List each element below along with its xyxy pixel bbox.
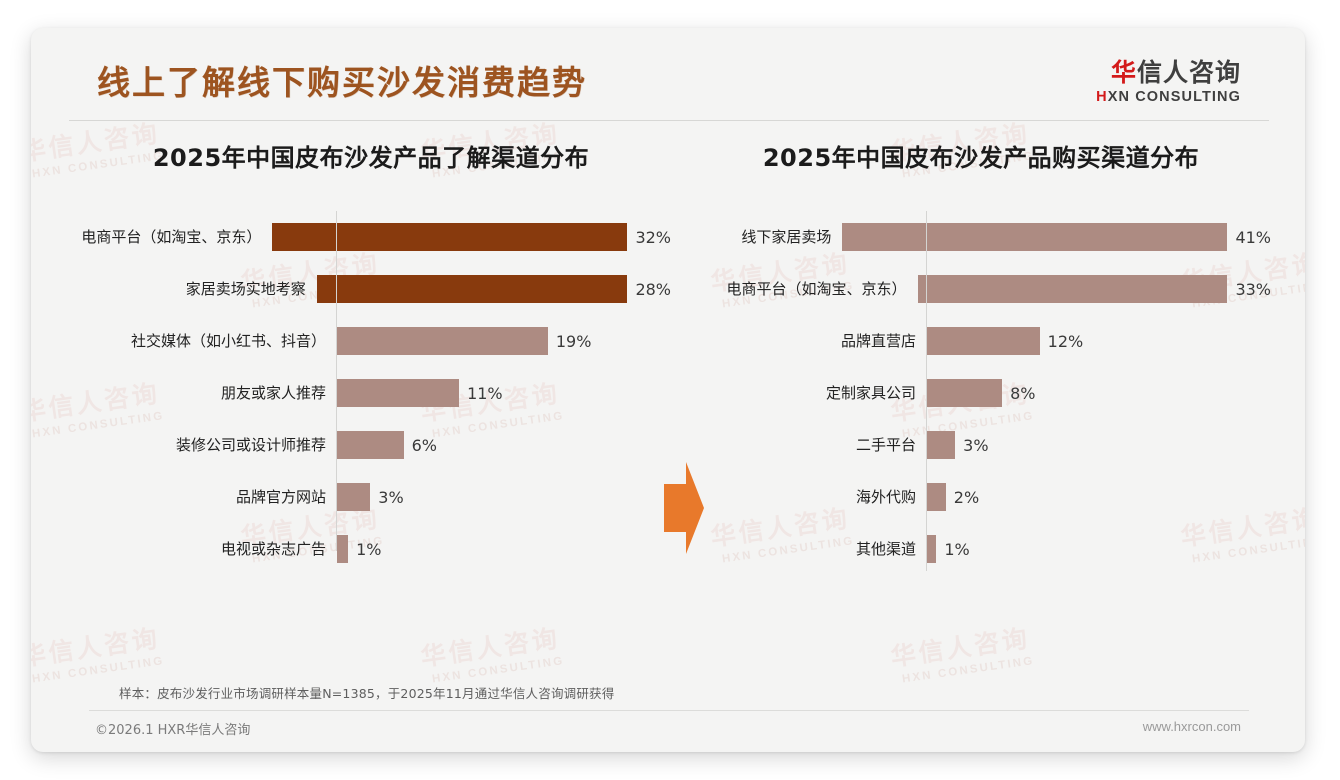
chart-value-label: 1% (944, 540, 969, 559)
chart-category-label: 装修公司或设计师推荐 (71, 438, 336, 453)
chart-bar[interactable] (927, 379, 1002, 407)
watermark-chinese: 华信人咨询 (31, 618, 163, 673)
orange-right-arrow-icon (662, 462, 706, 554)
chart-rows-left: 电商平台（如淘宝、京东）32%家居卖场实地考察28%社交媒体（如小红书、抖音）1… (71, 211, 671, 575)
watermark-english: HXN CONSULTING (431, 655, 565, 685)
chart-bar-wrap: 2% (926, 483, 1271, 511)
chart-category-label: 电视或杂志广告 (71, 542, 336, 557)
logo-chinese: 华信人咨询 (1096, 60, 1241, 86)
chart-value-label: 8% (1010, 384, 1035, 403)
chart-category-label: 二手平台 (691, 438, 926, 453)
chart-category-label: 品牌直营店 (691, 334, 926, 349)
chart-axis-right (926, 211, 927, 571)
chart-category-label: 电商平台（如淘宝、京东） (691, 282, 917, 297)
watermark-chinese: 华信人咨询 (418, 618, 563, 673)
chart-bar-wrap: 33% (917, 275, 1271, 303)
chart-bar-row: 电商平台（如淘宝、京东）32% (71, 211, 671, 263)
chart-bar-wrap: 12% (926, 327, 1271, 355)
chart-bar[interactable] (842, 223, 1227, 251)
chart-category-label: 其他渠道 (691, 542, 926, 557)
chart-title-right: 2025年中国皮布沙发产品购买渠道分布 (691, 138, 1271, 173)
chart-value-label: 2% (954, 488, 979, 507)
chart-category-label: 社交媒体（如小红书、抖音） (71, 334, 336, 349)
chart-bar-wrap: 1% (926, 535, 1271, 563)
chart-plot-right: 线下家居卖场41%电商平台（如淘宝、京东）33%品牌直营店12%定制家具公司8%… (691, 211, 1271, 575)
chart-bar-wrap: 32% (271, 223, 671, 251)
chart-bar-wrap: 19% (336, 327, 671, 355)
chart-panel-purchase: 2025年中国皮布沙发产品购买渠道分布 线下家居卖场41%电商平台（如淘宝、京东… (691, 138, 1271, 575)
chart-value-label: 3% (378, 488, 403, 507)
logo-english: HXN CONSULTING (1096, 89, 1241, 105)
company-logo: 华信人咨询 HXN CONSULTING (1096, 60, 1241, 105)
chart-category-label: 家居卖场实地考察 (71, 282, 316, 297)
chart-bar-row: 朋友或家人推荐11% (71, 367, 671, 419)
chart-bar-row: 二手平台3% (691, 419, 1271, 471)
chart-bar[interactable] (317, 275, 628, 303)
chart-plot-left: 电商平台（如淘宝、京东）32%家居卖场实地考察28%社交媒体（如小红书、抖音）1… (71, 211, 671, 575)
chart-bar-wrap: 3% (926, 431, 1271, 459)
chart-bar[interactable] (918, 275, 1228, 303)
watermark-english: HXN CONSULTING (31, 655, 165, 685)
chart-bar-row: 装修公司或设计师推荐6% (71, 419, 671, 471)
logo-english-red: H (1096, 89, 1108, 105)
chart-category-label: 电商平台（如淘宝、京东） (71, 230, 271, 245)
chart-bar-wrap: 41% (841, 223, 1271, 251)
chart-bar-row: 线下家居卖场41% (691, 211, 1271, 263)
watermark-chinese: 华信人咨询 (888, 618, 1033, 673)
chart-bar-row: 其他渠道1% (691, 523, 1271, 575)
chart-bar-wrap: 6% (336, 431, 671, 459)
logo-chinese-rest: 信人咨询 (1137, 58, 1241, 87)
chart-category-label: 品牌官方网站 (71, 490, 336, 505)
chart-bar[interactable] (337, 379, 459, 407)
slide-canvas: 华信人咨询HXN CONSULTING华信人咨询HXN CONSULTING华信… (31, 28, 1305, 752)
chart-bar-row: 品牌官方网站3% (71, 471, 671, 523)
chart-bar-wrap: 3% (336, 483, 671, 511)
chart-bar-wrap: 1% (336, 535, 671, 563)
logo-english-rest: XN CONSULTING (1108, 89, 1241, 105)
footer-copyright: ©2026.1 HXR华信人咨询 (95, 719, 250, 738)
watermark-english: HXN CONSULTING (901, 655, 1035, 685)
chart-title-left: 2025年中国皮布沙发产品了解渠道分布 (71, 138, 671, 173)
chart-value-label: 28% (635, 280, 671, 299)
chart-bar-wrap: 11% (336, 379, 671, 407)
watermark-tile: 华信人咨询HXN CONSULTING (418, 618, 565, 686)
watermark-tile: 华信人咨询HXN CONSULTING (31, 618, 165, 686)
chart-bar-row: 品牌直营店12% (691, 315, 1271, 367)
header-divider (69, 120, 1269, 121)
chart-bar[interactable] (337, 535, 348, 563)
chart-bar-row: 海外代购2% (691, 471, 1271, 523)
chart-value-label: 41% (1235, 228, 1271, 247)
chart-category-label: 线下家居卖场 (691, 230, 841, 245)
chart-category-label: 海外代购 (691, 490, 926, 505)
chart-bar[interactable] (927, 327, 1040, 355)
page-title: 线上了解线下购买沙发消费趋势 (97, 56, 587, 104)
chart-bar-row: 电视或杂志广告1% (71, 523, 671, 575)
chart-value-label: 33% (1235, 280, 1271, 299)
chart-bar[interactable] (927, 483, 946, 511)
chart-bar[interactable] (927, 431, 955, 459)
chart-bar-row: 定制家具公司8% (691, 367, 1271, 419)
chart-value-label: 1% (356, 540, 381, 559)
slide-header: 线上了解线下购买沙发消费趋势 华信人咨询 HXN CONSULTING (31, 28, 1305, 120)
chart-bar[interactable] (927, 535, 936, 563)
chart-category-label: 朋友或家人推荐 (71, 386, 336, 401)
chart-value-label: 6% (412, 436, 437, 455)
footer-website[interactable]: www.hxrcon.com (1143, 719, 1241, 734)
chart-bar[interactable] (337, 431, 404, 459)
chart-axis-left (336, 211, 337, 551)
chart-bar[interactable] (337, 327, 548, 355)
chart-value-label: 32% (635, 228, 671, 247)
footer-divider (89, 710, 1249, 711)
chart-bar-row: 社交媒体（如小红书、抖音）19% (71, 315, 671, 367)
chart-bar-row: 电商平台（如淘宝、京东）33% (691, 263, 1271, 315)
logo-chinese-red: 华 (1111, 58, 1137, 87)
chart-bar-row: 家居卖场实地考察28% (71, 263, 671, 315)
chart-value-label: 19% (556, 332, 592, 351)
chart-bar-wrap: 8% (926, 379, 1271, 407)
chart-value-label: 11% (467, 384, 503, 403)
chart-bar[interactable] (272, 223, 627, 251)
chart-rows-right: 线下家居卖场41%电商平台（如淘宝、京东）33%品牌直营店12%定制家具公司8%… (691, 211, 1271, 575)
chart-panel-awareness: 2025年中国皮布沙发产品了解渠道分布 电商平台（如淘宝、京东）32%家居卖场实… (71, 138, 671, 575)
watermark-tile: 华信人咨询HXN CONSULTING (888, 618, 1035, 686)
chart-category-label: 定制家具公司 (691, 386, 926, 401)
chart-bar-wrap: 28% (316, 275, 671, 303)
chart-value-label: 3% (963, 436, 988, 455)
chart-value-label: 12% (1048, 332, 1084, 351)
chart-bar[interactable] (337, 483, 370, 511)
footnote-text: 样本：皮布沙发行业市场调研样本量N=1385，于2025年11月通过华信人咨询调… (119, 683, 614, 702)
